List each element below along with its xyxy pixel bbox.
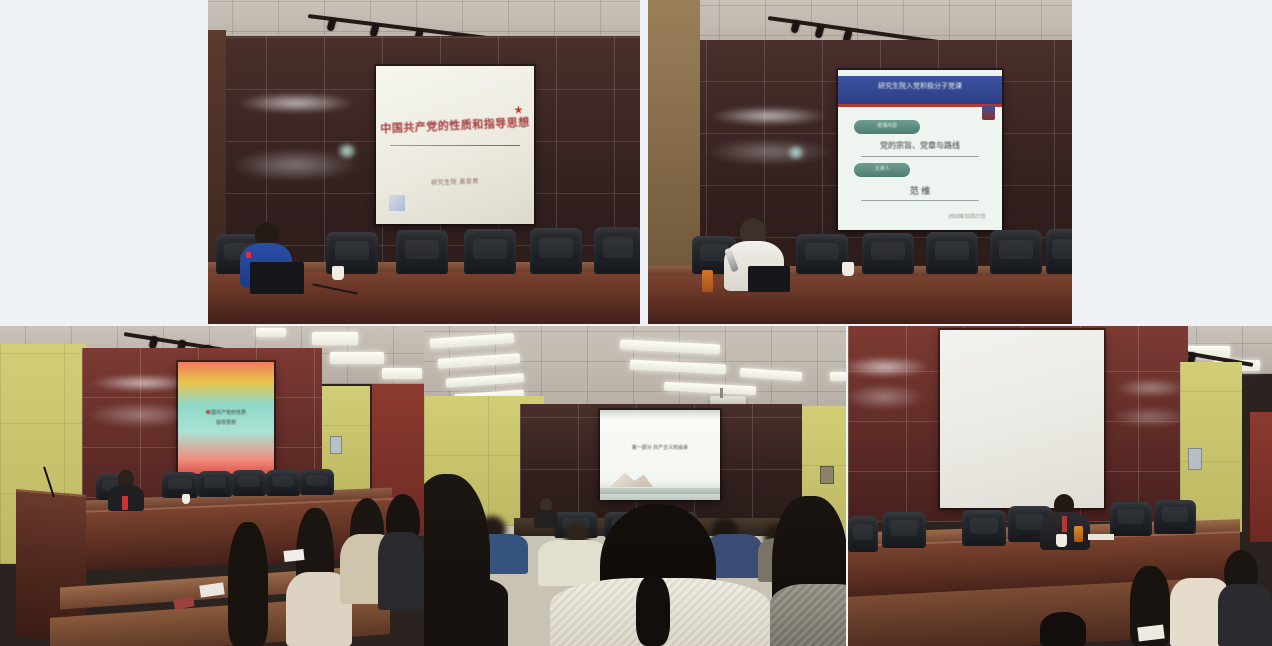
- projection-screen: 中国共产党的性质和指导思想 研究生院 高亚男: [376, 66, 534, 224]
- audience-head: [228, 522, 268, 646]
- slide-header-underline: [838, 104, 1002, 107]
- conference-chair: [1110, 502, 1152, 536]
- slide-baseline: [600, 488, 720, 494]
- foreground-person-right-sweater: [770, 584, 846, 646]
- thermos-bottle: [1074, 526, 1083, 542]
- slide-mountain-graphic-icon: [610, 469, 654, 487]
- conference-chair: [300, 469, 334, 495]
- conference-chair: [464, 229, 516, 274]
- projection-screen: 研究生院入党积极分子党课 党课内容 党的宗旨、党章与路线 主讲人 范 维 201…: [838, 70, 1002, 230]
- photo-lecture-hall-wide-with-audience[interactable]: 中国共产党的性质 指导思想: [0, 326, 424, 646]
- projection-screen: [940, 330, 1104, 508]
- speaker-body: [534, 510, 558, 528]
- ceiling-light-panel: [256, 328, 286, 337]
- conference-chair: [198, 471, 232, 497]
- photo-3-content: 中国共产党的性质 指导思想: [0, 326, 424, 646]
- ceiling-light-panel: [330, 352, 384, 364]
- photo-5-content: [848, 326, 1272, 646]
- projector-mount: [720, 388, 723, 398]
- photo-collage: 中国共产党的性质和指导思想 研究生院 高亚男: [0, 0, 1272, 646]
- audience-head: [1040, 612, 1086, 646]
- window-glare: [710, 106, 828, 126]
- ceiling-light-panel: [830, 372, 846, 381]
- ceiling-light-panel: [312, 332, 358, 345]
- conference-chair: [266, 470, 300, 496]
- water-bottle: [122, 496, 128, 510]
- lamp-reflection: [338, 144, 356, 158]
- photo-2-content: 研究生院入党积极分子党课 党课内容 党的宗旨、党章与路线 主讲人 范 维 201…: [648, 0, 1072, 324]
- projection-screen: 第一部分 共产主义的由来: [600, 410, 720, 500]
- speaker-badge: [246, 252, 251, 258]
- conference-chair: [162, 472, 198, 498]
- wall-notice-plate: [330, 436, 342, 454]
- slide-title: 第一部分 共产主义的由来: [600, 444, 720, 451]
- photo-lecture-hall-from-back-of-audience[interactable]: 第一部分 共产主义的由来: [424, 326, 846, 646]
- conference-chair: [990, 230, 1042, 274]
- slide-line-2: 范 维: [838, 184, 1002, 197]
- slide-divider: [390, 145, 520, 146]
- conference-chair: [848, 516, 878, 552]
- laptop: [250, 262, 304, 294]
- ceiling-light-panel: [382, 368, 422, 379]
- audience-body: [538, 540, 608, 586]
- door[interactable]: [1248, 412, 1272, 542]
- foreground-person-center-hair-strand: [636, 576, 670, 646]
- window-glare: [1110, 406, 1190, 428]
- conference-chair: [396, 230, 448, 274]
- foreground-person-left-coat: [424, 578, 508, 646]
- projection-screen: 中国共产党的性质 指导思想: [178, 362, 274, 474]
- conference-chair: [926, 232, 978, 274]
- slide-title: 中国共产党的性质和指导思想: [376, 113, 534, 136]
- slide-subtitle: 指导思想: [178, 419, 274, 426]
- conference-chair: [530, 228, 582, 274]
- photo-lecture-hall-speaker-blank-screen[interactable]: [848, 326, 1272, 646]
- lamp-reflection: [788, 146, 804, 159]
- slide-badge-1-text: 党课内容: [854, 122, 920, 129]
- photo-lecture-hall-female-speaker[interactable]: 中国共产党的性质和指导思想 研究生院 高亚男: [208, 0, 640, 324]
- wall-notice-plate: [1188, 448, 1202, 470]
- cup: [332, 266, 344, 280]
- slide-line-1: 党的宗旨、党章与路线: [838, 140, 1002, 151]
- slide-logo-block: [389, 195, 405, 211]
- conference-chair: [594, 227, 640, 274]
- slide-footer: 2018年10月27日: [948, 213, 985, 220]
- photo-lecture-hall-male-speaker-with-mic[interactable]: 研究生院入党积极分子党课 党课内容 党的宗旨、党章与路线 主讲人 范 维 201…: [648, 0, 1072, 324]
- window-glare: [1114, 378, 1188, 398]
- notebook: [283, 549, 304, 562]
- slide-title: 中国共产党的性质: [178, 409, 274, 416]
- conference-chair: [796, 234, 848, 274]
- conference-chair: [1154, 500, 1196, 534]
- cup: [182, 494, 190, 504]
- window-glare: [706, 138, 832, 166]
- slide-rule-1: [861, 156, 979, 157]
- photo-4-content: 第一部分 共产主义的由来: [424, 326, 846, 646]
- slide-emblem-icon: [982, 105, 995, 120]
- audience-body: [378, 532, 424, 610]
- cup: [842, 262, 854, 276]
- conference-chair: [232, 470, 266, 496]
- window-glare: [236, 92, 356, 114]
- conference-chair: [862, 233, 914, 274]
- slide-badge-2-text: 主讲人: [854, 165, 910, 172]
- laptop: [748, 266, 790, 292]
- conference-chair: [962, 510, 1006, 546]
- slide-rule-2: [861, 200, 979, 201]
- wall-notice-plate: [820, 466, 834, 484]
- audience-body: [1218, 584, 1272, 646]
- conference-chair: [882, 512, 926, 548]
- speaker-tie: [1062, 516, 1067, 532]
- conference-chair: [1046, 229, 1072, 274]
- cup: [1056, 534, 1067, 547]
- slide-subtitle: 研究生院 高亚男: [376, 174, 534, 189]
- slide-header-text: 研究生院入党积极分子党课: [838, 81, 1002, 91]
- photo-1-content: 中国共产党的性质和指导思想 研究生院 高亚男: [208, 0, 640, 324]
- thermos-bottle: [702, 270, 713, 292]
- document-stack: [1088, 534, 1114, 540]
